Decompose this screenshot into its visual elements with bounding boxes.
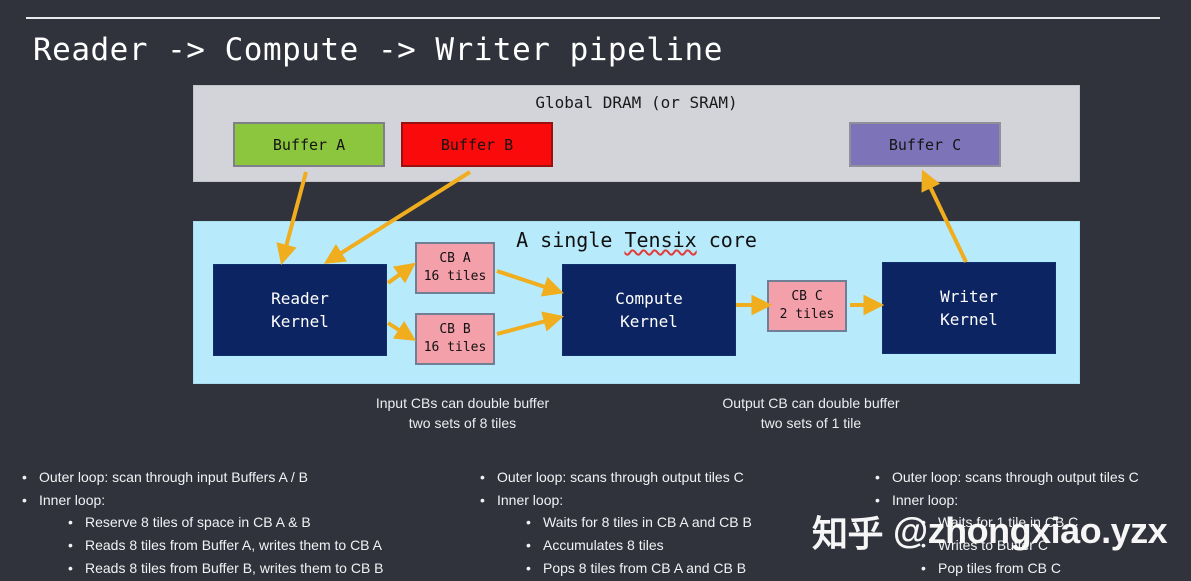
list-item-label: Outer loop: scans through output tiles C xyxy=(497,466,870,489)
list-item: • Outer loop: scans through output tiles… xyxy=(480,466,870,489)
bullet-marker-icon: • xyxy=(526,557,543,580)
cb-a-box: CB A 16 tiles xyxy=(415,242,495,294)
list-item-label: Pops 8 tiles from CB A and CB B xyxy=(543,557,870,580)
tensix-core-panel: A single Tensix core Reader Kernel Compu… xyxy=(193,221,1080,384)
page-title: Reader -> Compute -> Writer pipeline xyxy=(33,32,723,68)
cb-b-name: CB B xyxy=(439,321,470,339)
tensix-core-title: A single Tensix core xyxy=(194,228,1079,252)
cb-c-box: CB C 2 tiles xyxy=(767,280,847,332)
watermark: 知乎 @zhongxiao.yzx xyxy=(812,505,1167,557)
global-dram-title: Global DRAM (or SRAM) xyxy=(194,93,1079,112)
compute-kernel-line1: Compute xyxy=(615,287,682,310)
list-item: • Pop tiles from CB C xyxy=(921,557,1191,580)
list-item-label: Inner loop: xyxy=(39,489,472,512)
list-item-label: Reads 8 tiles from Buffer A, writes them… xyxy=(85,534,472,557)
buffer-c-label: Buffer C xyxy=(889,136,961,154)
header-divider xyxy=(26,17,1160,19)
buffer-b-label: Buffer B xyxy=(441,136,513,154)
buffer-a-box: Buffer A xyxy=(233,122,385,167)
writer-kernel-line2: Kernel xyxy=(940,308,998,331)
list-item-label: Outer loop: scans through output tiles C xyxy=(892,466,1191,489)
list-item: • Reads 8 tiles from Buffer A, writes th… xyxy=(68,534,472,557)
list-item: • Reserve 8 tiles of space in CB A & B xyxy=(68,511,472,534)
cb-a-size: 16 tiles xyxy=(424,268,487,286)
tensix-title-misspelled-word: Tensix xyxy=(624,228,696,252)
list-item-label: Reserve 8 tiles of space in CB A & B xyxy=(85,511,472,534)
slide-canvas: Reader -> Compute -> Writer pipeline Glo… xyxy=(0,0,1191,581)
bullet-marker-icon: • xyxy=(22,466,39,489)
bullet-marker-icon: • xyxy=(921,557,938,580)
writer-kernel-line1: Writer xyxy=(940,285,998,308)
watermark-handle: @zhongxiao.yzx xyxy=(893,510,1167,552)
reader-kernel-bullets: • Outer loop: scan through input Buffers… xyxy=(22,466,472,581)
buffer-a-label: Buffer A xyxy=(273,136,345,154)
bullet-marker-icon: • xyxy=(526,511,543,534)
bullet-marker-icon: • xyxy=(68,511,85,534)
bullet-marker-icon: • xyxy=(526,534,543,557)
reader-kernel-box: Reader Kernel xyxy=(213,264,387,356)
buffer-b-box: Buffer B xyxy=(401,122,553,167)
bullet-marker-icon: • xyxy=(480,489,497,512)
output-cb-caption: Output CB can double buffer two sets of … xyxy=(680,393,942,434)
cb-c-size: 2 tiles xyxy=(780,306,835,324)
cb-c-name: CB C xyxy=(791,288,822,306)
bullet-marker-icon: • xyxy=(68,534,85,557)
tensix-title-suffix: core xyxy=(697,228,757,252)
zhihu-logo-icon: 知乎 xyxy=(812,505,883,557)
reader-kernel-line1: Reader xyxy=(271,287,329,310)
bullet-marker-icon: • xyxy=(22,489,39,512)
list-item-label: Pop tiles from CB C xyxy=(938,557,1191,580)
list-item: • Pops 8 tiles from CB A and CB B xyxy=(526,557,870,580)
bullet-marker-icon: • xyxy=(68,557,85,580)
compute-kernel-box: Compute Kernel xyxy=(562,264,736,356)
buffer-c-box: Buffer C xyxy=(849,122,1001,167)
reader-kernel-line2: Kernel xyxy=(271,310,329,333)
writer-kernel-box: Writer Kernel xyxy=(882,262,1056,354)
compute-kernel-line2: Kernel xyxy=(620,310,678,333)
list-item-label: Outer loop: scan through input Buffers A… xyxy=(39,466,472,489)
list-item: • Reads 8 tiles from Buffer B, writes th… xyxy=(68,557,472,580)
list-item: • Outer loop: scan through input Buffers… xyxy=(22,466,472,489)
cb-b-size: 16 tiles xyxy=(424,339,487,357)
list-item: • Inner loop: xyxy=(22,489,472,512)
bullet-marker-icon: • xyxy=(875,466,892,489)
list-item-label: Reads 8 tiles from Buffer B, writes them… xyxy=(85,557,472,580)
cb-a-name: CB A xyxy=(439,250,470,268)
tensix-title-prefix: A single xyxy=(516,228,624,252)
global-dram-panel: Global DRAM (or SRAM) Buffer A Buffer B … xyxy=(193,85,1080,182)
bullet-marker-icon: • xyxy=(480,466,497,489)
list-item: • Outer loop: scans through output tiles… xyxy=(875,466,1191,489)
cb-b-box: CB B 16 tiles xyxy=(415,313,495,365)
input-cb-caption: Input CBs can double buffer two sets of … xyxy=(330,393,595,434)
